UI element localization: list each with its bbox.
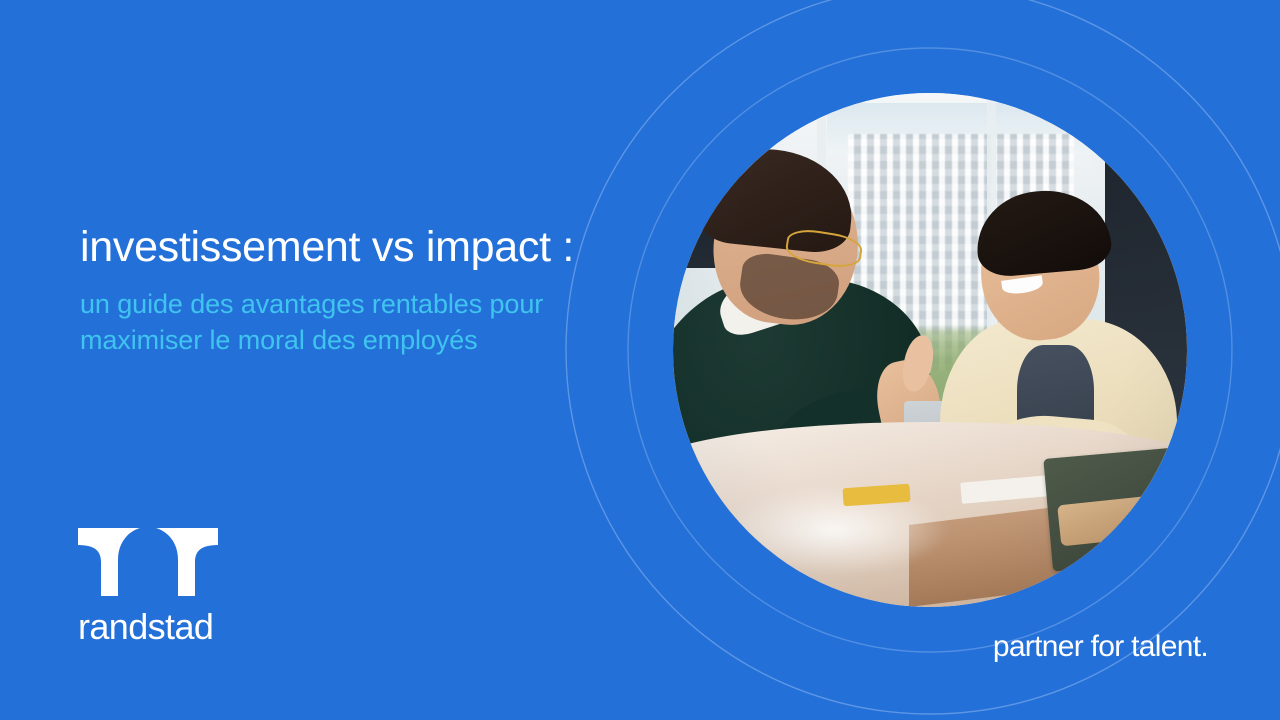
slide-subtitle: un guide des avantages rentables pour ma… bbox=[80, 286, 640, 358]
brand-tagline: partner for talent. bbox=[993, 630, 1208, 664]
randstad-wordmark: randstad bbox=[78, 608, 218, 646]
slide-title: investissement vs impact : bbox=[80, 222, 700, 272]
randstad-logo: randstad bbox=[78, 528, 218, 646]
hero-photo bbox=[673, 93, 1187, 607]
randstad-logo-mark bbox=[78, 528, 218, 596]
photo-vignette bbox=[673, 93, 1187, 607]
slide-canvas: investissement vs impact : un guide des … bbox=[0, 0, 1280, 720]
hero-photo-scene bbox=[673, 93, 1187, 607]
headline-block: investissement vs impact : un guide des … bbox=[80, 222, 700, 358]
